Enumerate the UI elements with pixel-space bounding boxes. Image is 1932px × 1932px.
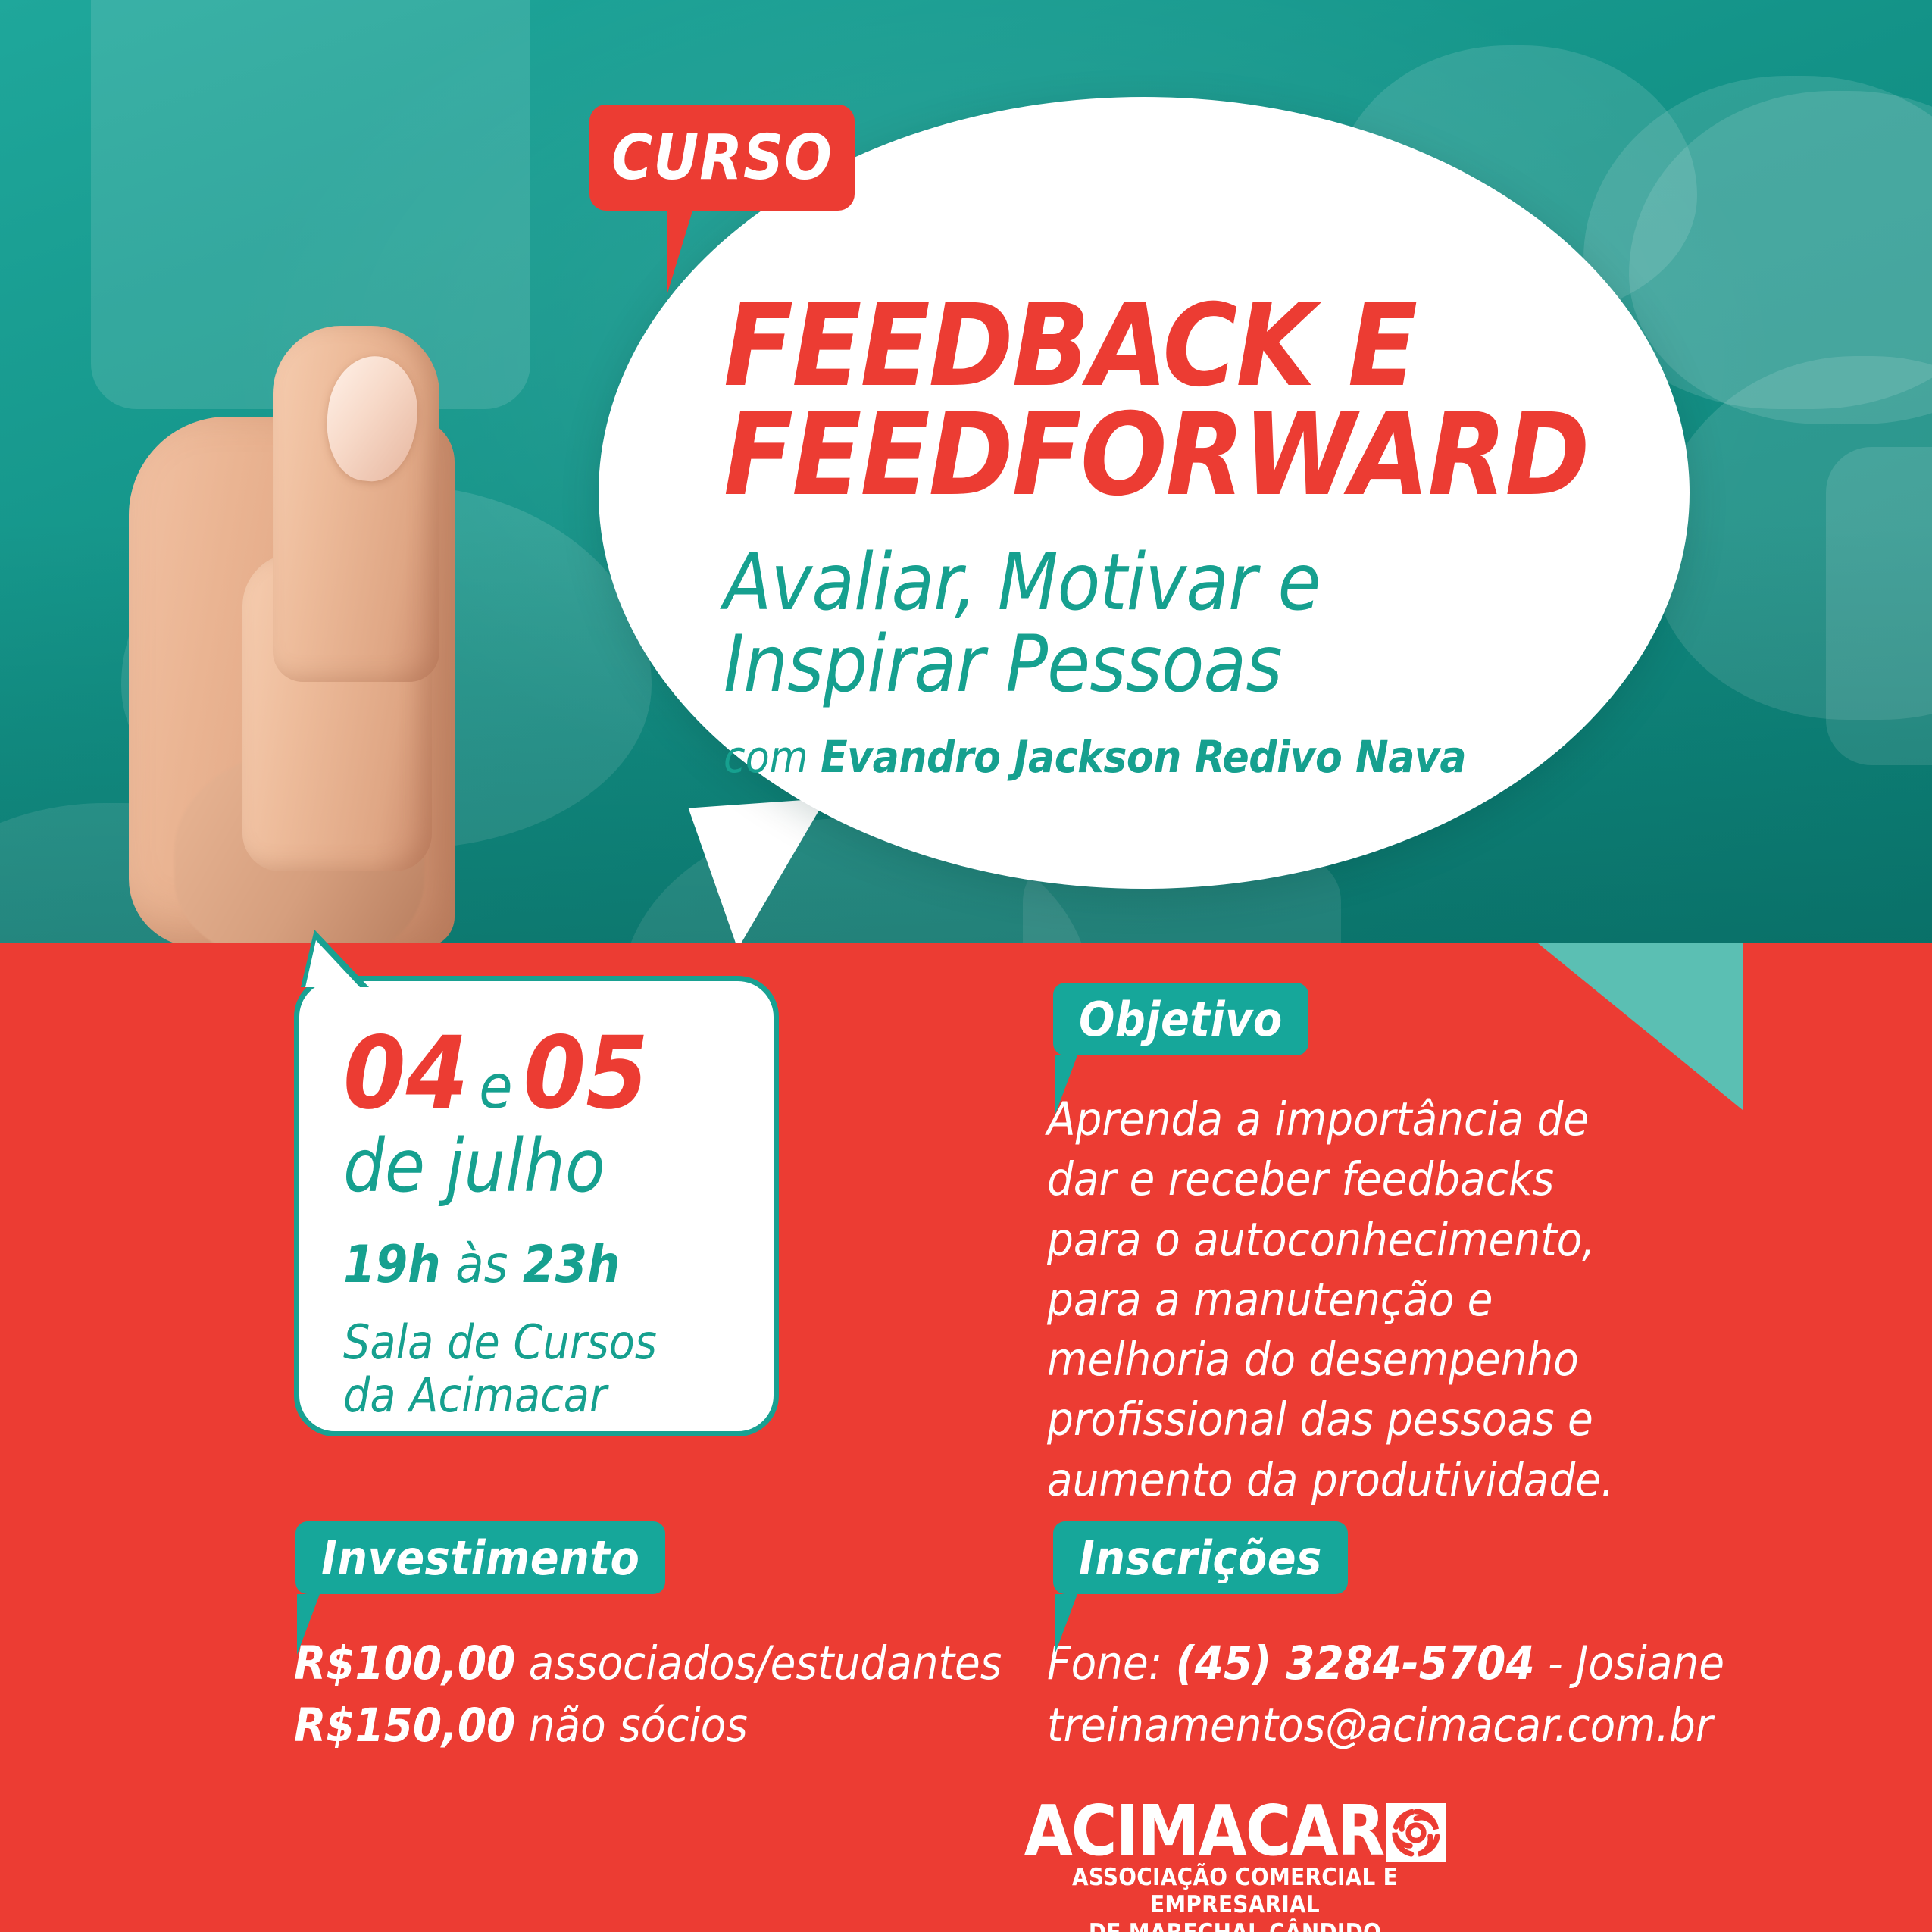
event-day-second: 05: [524, 1015, 649, 1132]
presenter-line: com Evandro Jackson Redivo Nava: [724, 731, 1678, 783]
hand-illustration: [129, 326, 553, 955]
presenter-prefix: com: [724, 731, 821, 783]
event-dates: 04e05: [343, 1024, 774, 1124]
registration-badge-label: Inscrições: [1079, 1530, 1322, 1586]
logo-wordmark: ACIMACAR: [1024, 1799, 1384, 1864]
price-row-nonmembers: R$150,00 não sócios: [294, 1695, 1014, 1757]
date-info-card: 04e05 de julho 19h às 23h Sala de Cursos…: [294, 976, 779, 1436]
title-block: FEEDBACK E FEEDFORWARD Avaliar, Motivar …: [724, 292, 1678, 783]
objective-badge-tail: [1055, 1055, 1089, 1116]
event-month: de julho: [343, 1128, 774, 1205]
event-venue-line-1: Sala de Cursos: [343, 1316, 774, 1368]
investment-price-list: R$100,00 associados/estudantes R$150,00 …: [294, 1633, 1014, 1756]
price-associates-label: associados/estudantes: [515, 1637, 1002, 1690]
logo-tagline-line-2: DE MARECHAL CÂNDIDO RONDON: [1038, 1919, 1432, 1932]
spiral-aperture-icon: [1386, 1803, 1446, 1862]
acimacar-logo: ACIMACAR ASSOCIAÇÃO COMERCIAL E EMPRESAR…: [1038, 1799, 1432, 1932]
event-venue: Sala de Cursosda Acimacar: [343, 1316, 774, 1421]
price-nonmembers-label: não sócios: [515, 1699, 748, 1752]
course-title-line-2: FEEDFORWARD: [724, 401, 1678, 510]
objective-body-text: Aprenda a importância de dar e receber f…: [1047, 1089, 1653, 1510]
course-subtitle-line-2: Inspirar Pessoas: [724, 624, 1678, 705]
contact-email[interactable]: treinamentos@acimacar.com.br: [1047, 1695, 1805, 1757]
investment-badge-tail: [297, 1594, 332, 1655]
registration-contact-block: Fone: (45) 3284-5704 - Josiane treinamen…: [1047, 1633, 1805, 1756]
teal-corner-bubble-tail: [1538, 943, 1743, 1110]
investment-badge: Investimento: [295, 1521, 665, 1594]
logo-wordmark-row: ACIMACAR: [1038, 1799, 1432, 1864]
curso-tag: CURSO: [589, 105, 855, 211]
event-time: 19h às 23h: [343, 1238, 774, 1292]
event-day-first: 04: [343, 1015, 468, 1132]
presenter-name: Evandro Jackson Redivo Nava: [821, 731, 1466, 783]
investment-badge-label: Investimento: [321, 1530, 639, 1586]
curso-tag-label: CURSO: [611, 122, 833, 194]
registration-badge-tail: [1055, 1594, 1089, 1655]
logo-tagline-line-1: ASSOCIAÇÃO COMERCIAL E EMPRESARIAL: [1038, 1864, 1432, 1919]
contact-phone-row: Fone: (45) 3284-5704 - Josiane: [1047, 1633, 1805, 1695]
event-time-start: 19h: [343, 1235, 441, 1295]
course-flyer: CURSO FEEDBACK E FEEDFORWARD Avaliar, Mo…: [0, 0, 1932, 1932]
event-time-separator: às: [441, 1235, 523, 1295]
course-subtitle-line-1: Avaliar, Motivar e: [724, 542, 1678, 624]
phone-number[interactable]: (45) 3284-5704: [1176, 1637, 1535, 1690]
event-venue-line-2: da Acimacar: [343, 1369, 774, 1421]
main-speech-bubble-tail: [689, 799, 836, 952]
contact-person: - Josiane: [1535, 1637, 1724, 1690]
price-row-associates: R$100,00 associados/estudantes: [294, 1633, 1014, 1695]
objective-badge: Objetivo: [1053, 983, 1308, 1055]
objective-badge-label: Objetivo: [1079, 992, 1283, 1047]
registration-badge: Inscrições: [1053, 1521, 1348, 1594]
price-nonmembers: R$150,00: [294, 1699, 515, 1752]
date-card-tail-fill: [305, 940, 360, 987]
event-time-end: 23h: [523, 1235, 621, 1295]
course-title-line-1: FEEDBACK E: [724, 292, 1678, 401]
event-day-conjunction: e: [468, 1052, 523, 1122]
